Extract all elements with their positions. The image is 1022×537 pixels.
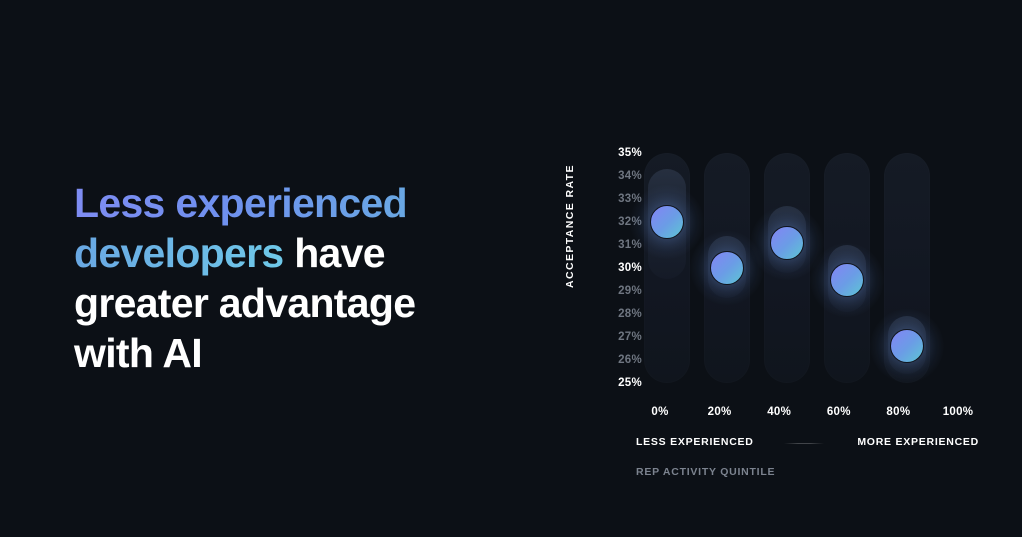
chart-bar-group[interactable] (764, 153, 810, 383)
x-axis-tick: 100% (943, 406, 974, 418)
chart-bar-group[interactable] (704, 153, 750, 383)
slide-canvas: Less experienced developers have greater… (0, 0, 1022, 537)
data-point-dot[interactable] (830, 263, 864, 297)
y-axis-tick: 25% (618, 377, 642, 389)
x-axis-tick-list: 0%20%40%60%80%100% (644, 406, 974, 424)
y-axis-tick: 26% (618, 354, 642, 366)
x-axis-tick: 40% (767, 406, 791, 418)
y-axis-tick: 29% (618, 285, 642, 297)
chart-bar-group[interactable] (884, 153, 930, 383)
x-axis-legend-more: MORE EXPERIENCED (857, 436, 979, 448)
x-axis-experience-legend: LESS EXPERIENCED MORE EXPERIENCED (636, 436, 976, 450)
y-axis-tick-list: 35%34%33%32%31%30%29%28%27%26%25% (592, 148, 642, 388)
legend-divider-rule (784, 443, 824, 444)
x-axis-tick: 0% (651, 406, 668, 418)
data-point-dot[interactable] (710, 251, 744, 285)
y-axis-tick: 33% (618, 193, 642, 205)
x-axis-tick: 20% (708, 406, 732, 418)
x-axis-tick: 60% (827, 406, 851, 418)
y-axis-title: ACCEPTANCE RATE (564, 164, 576, 288)
y-axis-tick: 35% (618, 147, 642, 159)
y-axis-tick: 28% (618, 308, 642, 320)
data-point-dot[interactable] (890, 329, 924, 363)
y-axis-tick: 30% (618, 262, 642, 274)
acceptance-rate-chart: ACCEPTANCE RATE 35%34%33%32%31%30%29%28%… (566, 148, 976, 488)
chart-plot-area (644, 153, 974, 383)
data-point-dot[interactable] (650, 205, 684, 239)
chart-bar-group[interactable] (644, 153, 690, 383)
y-axis-tick: 32% (618, 216, 642, 228)
chart-bar-group[interactable] (824, 153, 870, 383)
x-axis-legend-less: LESS EXPERIENCED (636, 436, 754, 448)
x-axis-title: REP ACTIVITY QUINTILE (636, 466, 775, 478)
y-axis-tick: 31% (618, 239, 642, 251)
y-axis-tick: 27% (618, 331, 642, 343)
x-axis-tick: 80% (886, 406, 910, 418)
page-title: Less experienced developers have greater… (74, 178, 504, 378)
y-axis-tick: 34% (618, 170, 642, 182)
data-point-dot[interactable] (770, 226, 804, 260)
